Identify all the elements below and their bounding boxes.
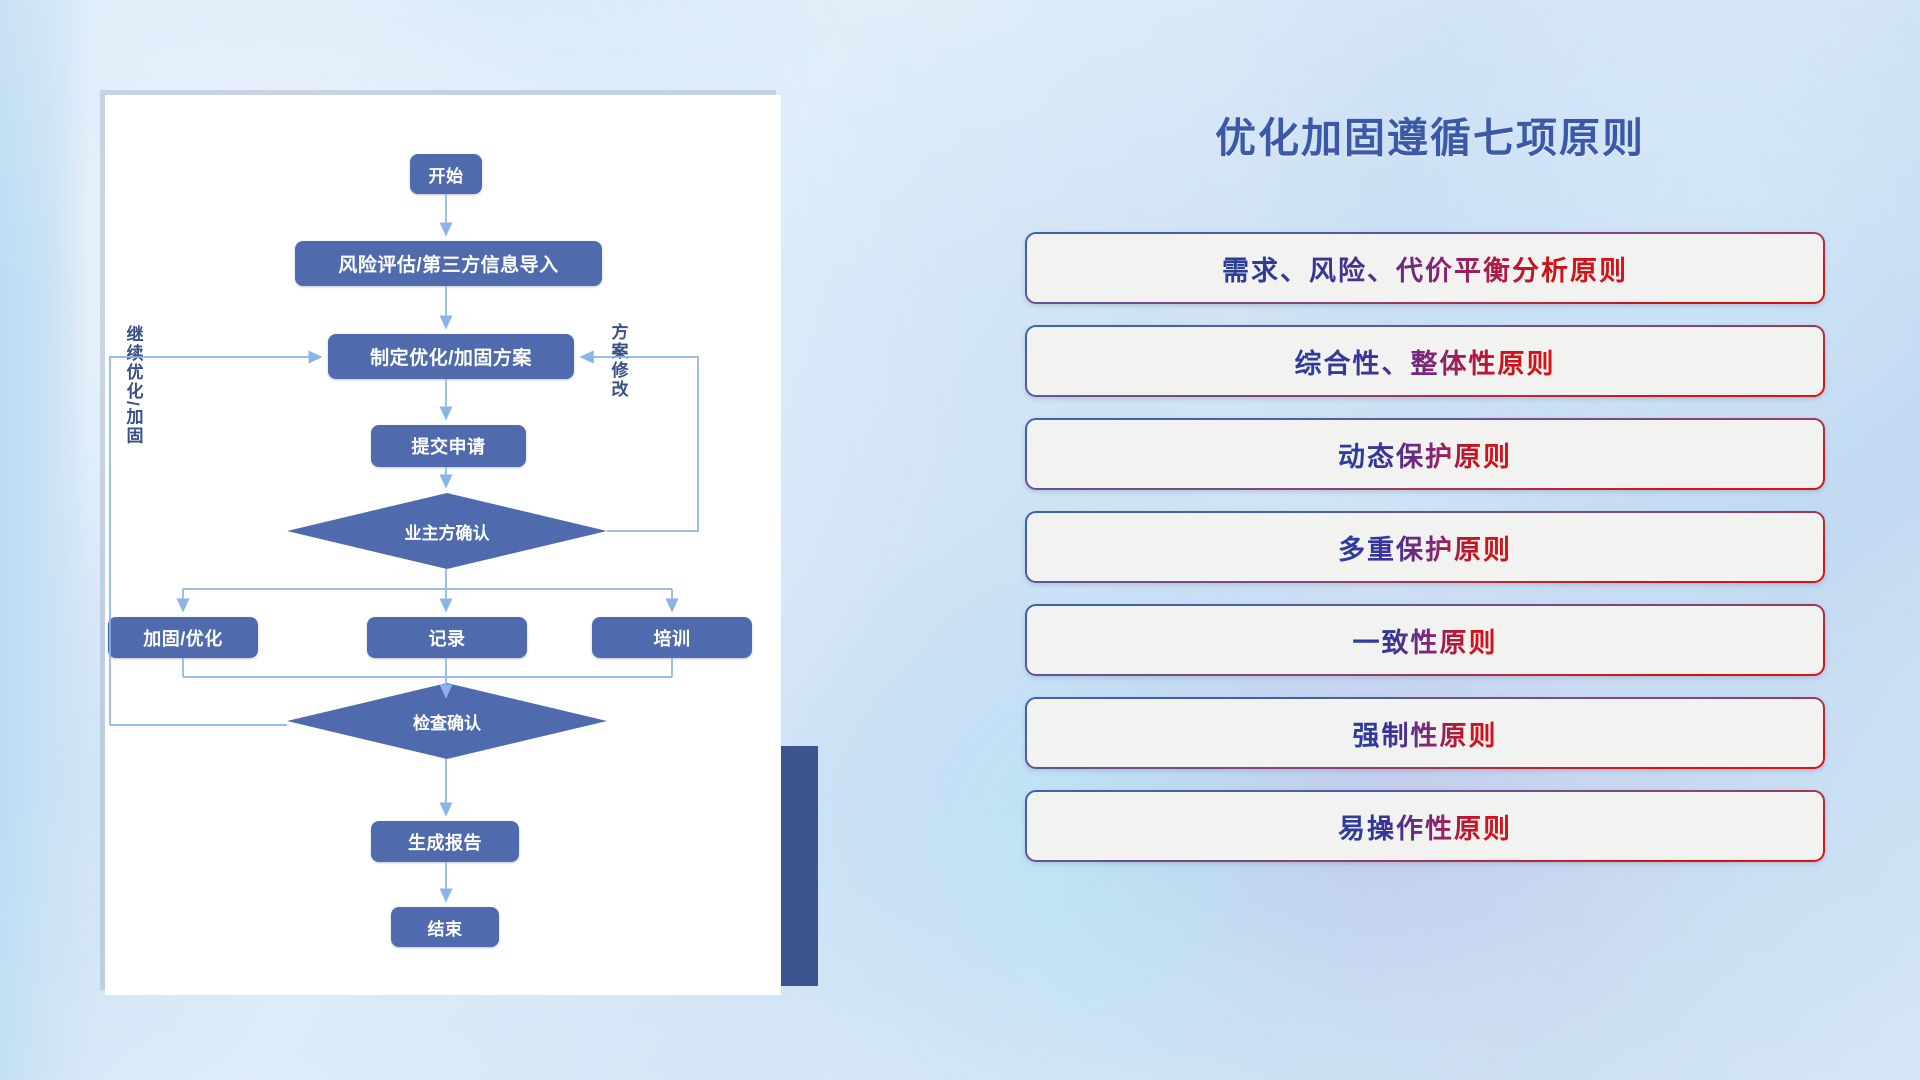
flow-decision-inspection-confirm-label: 检查确认 xyxy=(413,709,481,734)
flow-decision-owner-confirm-label: 业主方确认 xyxy=(405,519,490,544)
principle-card-inner: 易操作性原则 xyxy=(1027,792,1823,860)
principle-card-inner: 强制性原则 xyxy=(1027,699,1823,767)
principle-card-6[interactable]: 强制性原则 xyxy=(1025,697,1825,769)
principle-card-4[interactable]: 多重保护原则 xyxy=(1025,511,1825,583)
principle-label: 需求、风险、代价平衡分析原则 xyxy=(1222,249,1628,288)
principle-card-7[interactable]: 易操作性原则 xyxy=(1025,790,1825,862)
flowchart-connectors xyxy=(105,95,781,995)
principle-card-inner: 综合性、整体性原则 xyxy=(1027,327,1823,395)
principle-label: 综合性、整体性原则 xyxy=(1295,342,1556,381)
page-title: 优化加固遵循七项原则 xyxy=(1010,104,1850,164)
principle-card-inner: 动态保护原则 xyxy=(1027,420,1823,488)
principle-label: 易操作性原则 xyxy=(1338,807,1512,846)
flowchart-inner: 开始 风险评估/第三方信息导入 制定优化/加固方案 提交申请 业主方确认 加固/… xyxy=(105,95,781,995)
principle-card-1[interactable]: 需求、风险、代价平衡分析原则 xyxy=(1025,232,1825,304)
flowchart-canvas: 开始 风险评估/第三方信息导入 制定优化/加固方案 提交申请 业主方确认 加固/… xyxy=(105,95,781,995)
principles-panel: 优化加固遵循七项原则 需求、风险、代价平衡分析原则 综合性、整体性原则 动态保护… xyxy=(1010,0,1920,1080)
principle-card-inner: 一致性原则 xyxy=(1027,606,1823,674)
principle-card-3[interactable]: 动态保护原则 xyxy=(1025,418,1825,490)
principle-label: 强制性原则 xyxy=(1353,714,1498,753)
principle-label: 一致性原则 xyxy=(1353,621,1498,660)
flowchart-panel: 开始 风险评估/第三方信息导入 制定优化/加固方案 提交申请 业主方确认 加固/… xyxy=(0,0,840,1080)
principle-card-inner: 多重保护原则 xyxy=(1027,513,1823,581)
principles-list: 需求、风险、代价平衡分析原则 综合性、整体性原则 动态保护原则 多重保护原则 一… xyxy=(1025,232,1825,883)
principle-card-5[interactable]: 一致性原则 xyxy=(1025,604,1825,676)
principle-card-2[interactable]: 综合性、整体性原则 xyxy=(1025,325,1825,397)
principle-label: 多重保护原则 xyxy=(1338,528,1512,567)
principle-card-inner: 需求、风险、代价平衡分析原则 xyxy=(1027,234,1823,302)
principle-label: 动态保护原则 xyxy=(1338,435,1512,474)
